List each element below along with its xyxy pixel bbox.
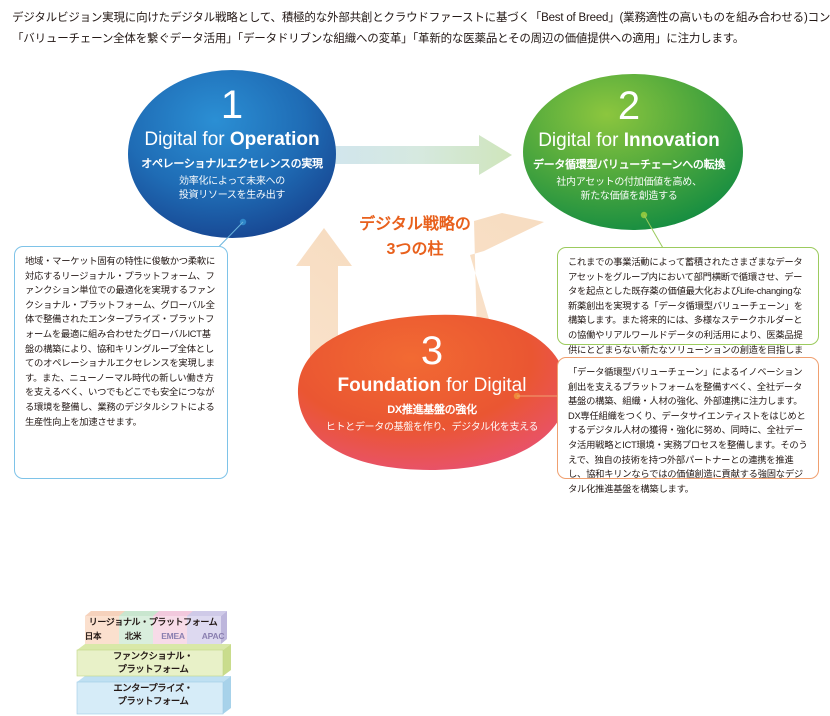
enterprise-platform-label-line-2: プラットフォーム xyxy=(73,695,233,708)
region-label-japan: 日本 xyxy=(73,629,113,644)
platform-stack-diagram: リージョナル・プラットフォーム 日本 北米 EMEA APAC ファンクショナル… xyxy=(73,610,233,716)
info-box-innovation-text: これまでの事業活動によって蓄積されたさまざまなデータアセットをグループ内において… xyxy=(568,255,809,372)
info-box-operation: 地域・マーケット固有の特性に俊敏かつ柔軟に対応するリージョナル・プラットフォーム… xyxy=(14,246,228,479)
pillar-1-shape[interactable] xyxy=(128,70,336,238)
regional-platform-region-row: 日本 北米 EMEA APAC xyxy=(73,629,233,644)
region-label-emea: EMEA xyxy=(153,629,193,644)
info-box-innovation: これまでの事業活動によって蓄積されたさまざまなデータアセットをグループ内において… xyxy=(557,247,819,345)
enterprise-platform-label-line-1: エンタープライズ・ xyxy=(73,682,233,695)
region-label-north-america: 北米 xyxy=(113,629,153,644)
diagram-canvas: デジタルビジョン実現に向けたデジタル戦略として、積極的な外部共創とクラウドファー… xyxy=(0,0,830,490)
pillar-3-shape[interactable] xyxy=(298,315,567,470)
info-box-foundation: 「データ循環型バリューチェーン」によるイノベーション創出を支えるプラットフォーム… xyxy=(557,357,819,479)
info-box-operation-text: 地域・マーケット固有の特性に俊敏かつ柔軟に対応するリージョナル・プラットフォーム… xyxy=(25,254,218,429)
functional-platform-label-line-2: プラットフォーム xyxy=(73,663,233,676)
enterprise-platform-label: エンタープライズ・ プラットフォーム xyxy=(73,682,233,707)
region-label-apac: APAC xyxy=(193,629,233,644)
pillar-2-shape[interactable] xyxy=(523,74,743,230)
regional-platform-label: リージョナル・プラットフォーム xyxy=(73,616,233,628)
functional-platform-label-line-1: ファンクショナル・ xyxy=(73,650,233,663)
functional-platform-label: ファンクショナル・ プラットフォーム xyxy=(73,650,233,675)
info-box-foundation-text: 「データ循環型バリューチェーン」によるイノベーション創出を支えるプラットフォーム… xyxy=(568,365,809,496)
